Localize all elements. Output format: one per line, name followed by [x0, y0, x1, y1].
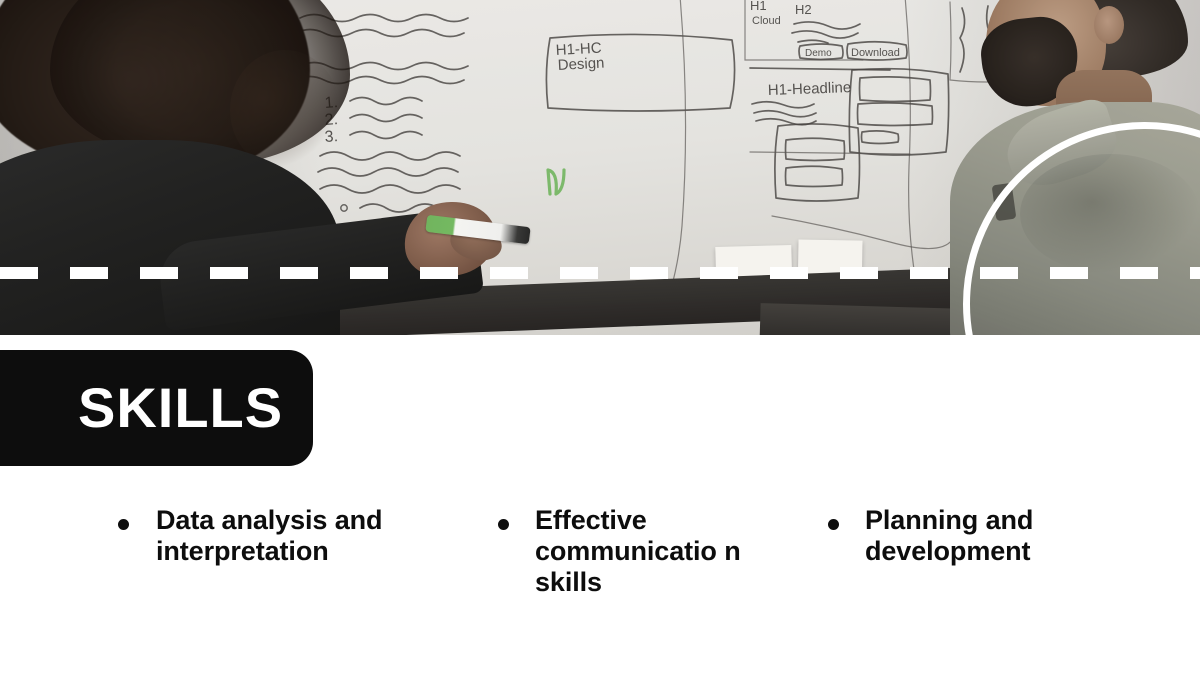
svg-text:H1-Headline: H1-Headline	[768, 79, 852, 99]
skill-label: Planning and development	[865, 505, 1095, 567]
title-badge: SKILLS	[0, 350, 313, 466]
ear	[1094, 6, 1124, 44]
skills-list: Data analysis and interpretation Effecti…	[0, 505, 1200, 567]
bullet-icon	[828, 519, 839, 530]
list-item: Planning and development	[828, 505, 1158, 567]
svg-text:Cloud: Cloud	[752, 15, 781, 27]
page-title: SKILLS	[78, 380, 283, 436]
svg-text:Download: Download	[851, 47, 900, 59]
svg-text:H2: H2	[795, 2, 812, 17]
person-writing	[0, 0, 400, 335]
svg-text:H1: H1	[750, 0, 767, 13]
svg-text:Design: Design	[557, 55, 605, 74]
slide-canvas: 1. 2. 3. H1-HC Design	[0, 0, 1200, 675]
skill-column-3: Planning and development	[0, 505, 1158, 567]
dashed-line-decoration	[0, 267, 1200, 279]
svg-text:Demo: Demo	[805, 48, 832, 59]
